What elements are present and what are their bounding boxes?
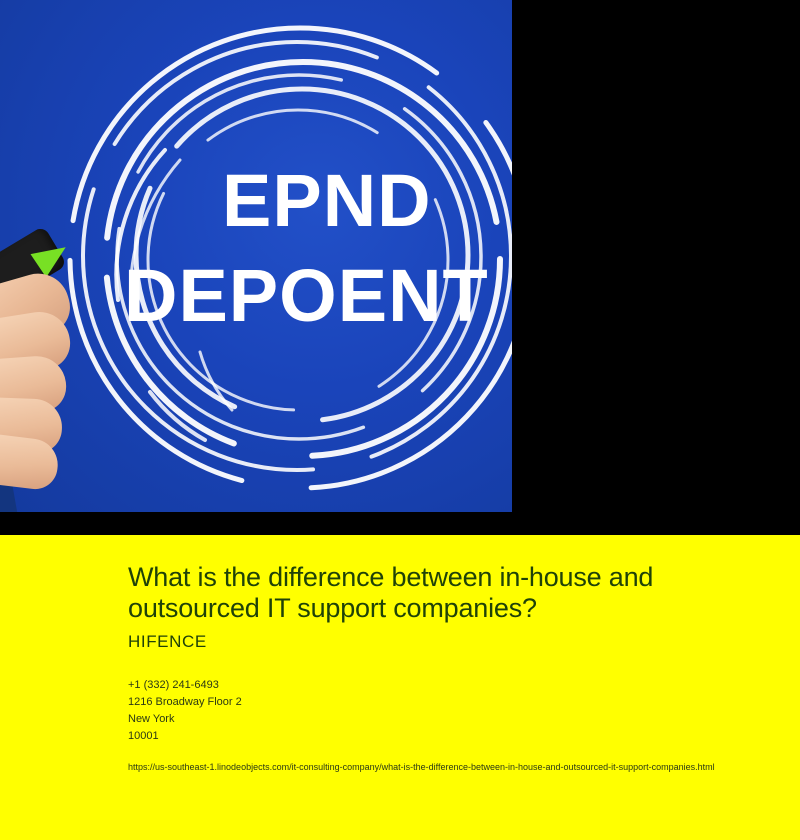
hero-board-text-line2: DEPOENT — [124, 258, 489, 333]
hand-holding-marker — [0, 236, 122, 512]
source-url-link[interactable]: https://us-southeast-1.linodeobjects.com… — [128, 756, 728, 779]
contact-phone[interactable]: +1 (332) 241-6493 — [128, 677, 728, 694]
brand-name: HIFENCE — [128, 632, 207, 652]
contact-street: 1216 Broadway Floor 2 — [128, 694, 728, 711]
contact-city: New York — [128, 711, 728, 728]
page-title: What is the difference between in-house … — [128, 562, 728, 625]
contact-block: +1 (332) 241-6493 1216 Broadway Floor 2 … — [128, 677, 728, 745]
content-panel: What is the difference between in-house … — [0, 535, 800, 840]
page-root: EPND DEPOENT What is the difference betw… — [0, 0, 800, 840]
hero-board-text-line1: EPND — [222, 163, 432, 238]
contact-postal-code: 10001 — [128, 728, 728, 745]
hero-band: EPND DEPOENT — [0, 0, 800, 535]
hero-image: EPND DEPOENT — [0, 0, 512, 512]
